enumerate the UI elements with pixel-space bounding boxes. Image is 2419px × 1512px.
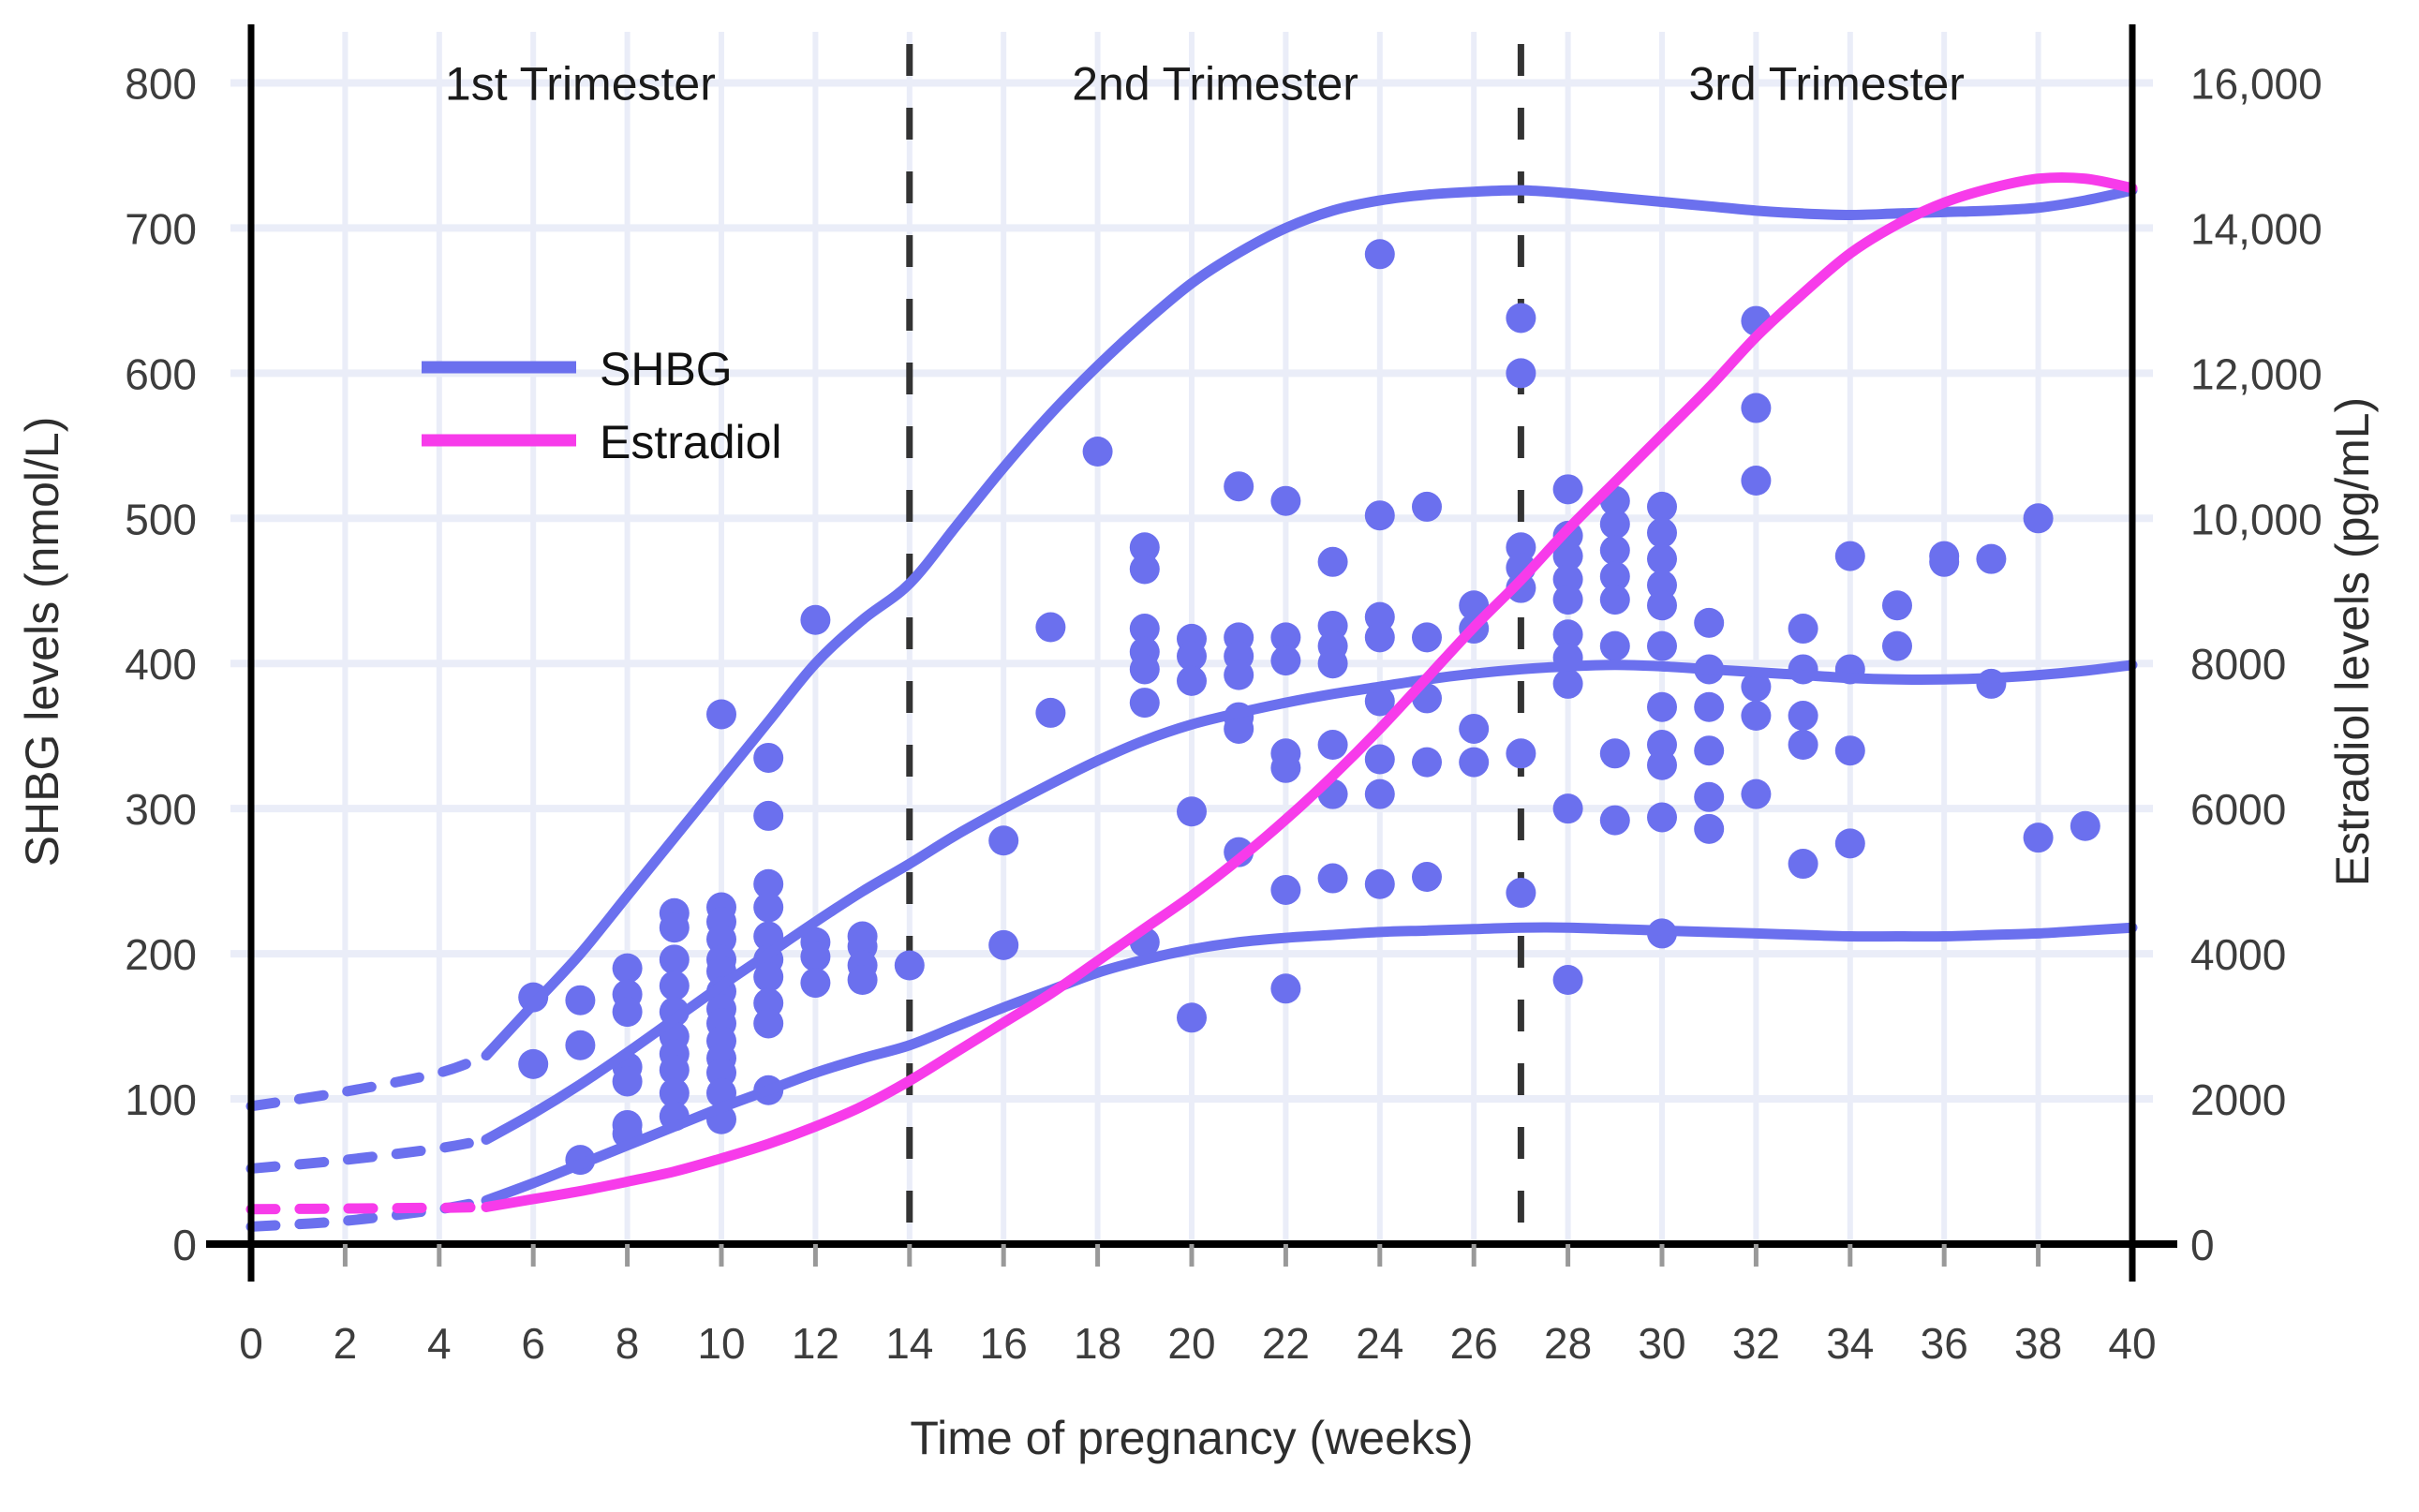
x-tick-label: 40 [2108, 1319, 2156, 1368]
scatter-point [1318, 730, 1348, 760]
x-tick-label: 30 [1638, 1319, 1685, 1368]
scatter-point [1177, 796, 1207, 826]
scatter-point [1270, 645, 1300, 675]
y-axis-left-ticks: 0100200300400500600700800 [125, 59, 197, 1269]
scatter-point [895, 951, 925, 981]
scatter-point [800, 605, 830, 635]
scatter-point [706, 699, 736, 729]
scatter-point [518, 1049, 548, 1079]
scatter-point [613, 954, 643, 984]
scatter-point [1506, 303, 1536, 333]
scatter-point [1412, 862, 1442, 892]
x-tick-label: 10 [697, 1319, 745, 1368]
scatter-point [1788, 849, 1818, 879]
chart-figure: 0246810121416182022242628303234363840010… [0, 0, 2419, 1512]
scatter-point [1224, 660, 1254, 690]
x-tick-label: 2 [334, 1319, 358, 1368]
trimester-label: 2nd Trimester [1072, 57, 1358, 110]
scatter-point [1035, 613, 1065, 643]
scatter-point [1694, 692, 1724, 722]
scatter-point [1741, 779, 1771, 809]
scatter-point [753, 1008, 783, 1038]
scatter-point [800, 941, 830, 971]
y-tick-label-left: 100 [125, 1075, 197, 1124]
scatter-point [1553, 793, 1583, 823]
scatter-point [1600, 738, 1630, 768]
scatter-point [1506, 878, 1536, 908]
scatter-point [988, 825, 1018, 855]
scatter-point [1788, 614, 1818, 644]
scatter-point [613, 997, 643, 1027]
x-tick-label: 4 [427, 1319, 452, 1368]
scatter-point [1835, 735, 1865, 765]
scatter-point [1224, 471, 1254, 501]
scatter-point [1365, 239, 1395, 269]
scatter-point [660, 971, 690, 1001]
x-tick-label: 18 [1074, 1319, 1121, 1368]
scatter-point [1882, 631, 1912, 661]
scatter-point [1459, 714, 1489, 744]
y-tick-label-right: 6000 [2190, 785, 2286, 834]
x-tick-label: 34 [1826, 1319, 1874, 1368]
x-tick-label: 20 [1167, 1319, 1215, 1368]
scatter-point [848, 965, 878, 995]
scatter-point [1694, 782, 1724, 812]
y-tick-label-left: 200 [125, 930, 197, 979]
y-tick-label-right: 12,000 [2190, 349, 2323, 398]
y-tick-label-left: 400 [125, 640, 197, 689]
scatter-point [2024, 823, 2054, 852]
scatter-point [1412, 622, 1442, 652]
scatter-point [753, 743, 783, 773]
scatter-point [1365, 500, 1395, 530]
scatter-point [1270, 875, 1300, 905]
scatter-point [1318, 648, 1348, 678]
y-tick-label-right: 4000 [2190, 930, 2286, 979]
trimester-labels: 1st Trimester2nd Trimester3rd Trimester [445, 57, 1965, 110]
x-axis-title: Time of pregnancy (weeks) [910, 1412, 1473, 1464]
scatter-point [1083, 437, 1113, 467]
scatter-point [1177, 666, 1207, 696]
x-tick-label: 22 [1262, 1319, 1310, 1368]
x-tick-label: 8 [616, 1319, 640, 1368]
scatter-point [2070, 811, 2100, 841]
scatter-point [565, 986, 595, 1015]
y-tick-label-left: 800 [125, 59, 197, 108]
legend: SHBGEstradiol [422, 343, 782, 468]
scatter-point [1647, 802, 1677, 832]
scatter-point [1647, 692, 1677, 722]
scatter-point [1412, 748, 1442, 778]
x-tick-label: 24 [1356, 1319, 1403, 1368]
scatter-point [1835, 828, 1865, 858]
scatter-point [1553, 669, 1583, 699]
scatter-layer [518, 239, 2100, 1175]
scatter-point [1741, 466, 1771, 496]
y-tick-label-right: 0 [2190, 1221, 2215, 1269]
scatter-point [660, 944, 690, 974]
scatter-point [660, 912, 690, 942]
chart-canvas: 0246810121416182022242628303234363840010… [0, 0, 2419, 1512]
scatter-point [1694, 608, 1724, 638]
x-tick-label: 0 [239, 1319, 263, 1368]
scatter-point [1270, 486, 1300, 516]
trimester-label: 3rd Trimester [1688, 57, 1965, 110]
x-tick-label: 26 [1450, 1319, 1498, 1368]
scatter-point [1741, 393, 1771, 423]
scatter-point [1647, 590, 1677, 620]
scatter-point [1459, 748, 1489, 778]
y-tick-label-right: 8000 [2190, 640, 2286, 689]
scatter-point [1130, 654, 1160, 684]
scatter-point [1130, 688, 1160, 718]
y-tick-label-left: 300 [125, 785, 197, 834]
y-tick-label-right: 16,000 [2190, 59, 2323, 108]
scatter-point [1647, 631, 1677, 661]
scatter-point [565, 1030, 595, 1060]
scatter-point [1976, 544, 2006, 574]
scatter-point [1365, 779, 1395, 809]
y-axis-left-title: SHBG levels (nmol/L) [16, 417, 68, 867]
x-tick-label: 28 [1544, 1319, 1592, 1368]
legend-label-estradiol: Estradiol [600, 416, 782, 468]
x-tick-label: 16 [980, 1319, 1028, 1368]
scatter-point [753, 801, 783, 831]
scatter-point [1318, 547, 1348, 577]
scatter-point [1130, 555, 1160, 585]
scatter-point [1647, 492, 1677, 522]
scatter-point [753, 893, 783, 923]
scatter-point [1177, 1002, 1207, 1032]
trimester-label: 1st Trimester [445, 57, 716, 110]
scatter-point [1647, 544, 1677, 574]
scatter-point [1318, 864, 1348, 894]
scatter-point [1365, 869, 1395, 899]
scatter-point [1365, 622, 1395, 652]
y-axis-right-ticks: 0200040006000800010,00012,00014,00016,00… [2190, 59, 2323, 1269]
series-line-dashed [251, 1207, 486, 1208]
x-tick-label: 14 [885, 1319, 933, 1368]
scatter-point [988, 930, 1018, 960]
scatter-point [1600, 631, 1630, 661]
scatter-point [1600, 806, 1630, 836]
y-tick-label-left: 600 [125, 349, 197, 398]
y-axis-right-title: Estradiol levels (pg/mL) [2326, 397, 2379, 886]
scatter-point [1882, 590, 1912, 620]
scatter-point [1835, 541, 1865, 571]
scatter-point [613, 1066, 643, 1096]
scatter-point [1553, 474, 1583, 504]
scatter-point [800, 968, 830, 998]
y-tick-label-right: 10,000 [2190, 495, 2323, 543]
y-tick-label-right: 2000 [2190, 1075, 2286, 1124]
x-tick-label: 32 [1732, 1319, 1780, 1368]
scatter-point [1270, 973, 1300, 1003]
scatter-point [1788, 730, 1818, 760]
scatter-point [1600, 509, 1630, 539]
x-tick-label: 36 [1921, 1319, 1968, 1368]
y-tick-label-left: 0 [172, 1221, 197, 1269]
series-line-dashed [251, 1139, 486, 1168]
scatter-point [1506, 358, 1536, 388]
x-tick-label: 12 [792, 1319, 839, 1368]
scatter-point [1929, 547, 1959, 577]
scatter-point [1553, 585, 1583, 615]
scatter-point [1788, 701, 1818, 731]
scatter-point [1553, 965, 1583, 995]
y-tick-label-right: 14,000 [2190, 204, 2323, 253]
scatter-point [1035, 698, 1065, 728]
y-tick-label-left: 700 [125, 204, 197, 253]
x-tick-label: 38 [2014, 1319, 2062, 1368]
y-tick-label-left: 500 [125, 495, 197, 543]
scatter-point [1694, 814, 1724, 844]
scatter-point [1647, 750, 1677, 780]
legend-label-shbg: SHBG [600, 343, 733, 395]
scatter-point [1694, 735, 1724, 765]
scatter-point [1365, 745, 1395, 775]
scatter-point [1412, 492, 1442, 522]
scatter-point [1600, 585, 1630, 615]
scatter-point [1600, 535, 1630, 565]
scatter-point [2024, 503, 2054, 533]
x-axis-ticks: 0246810121416182022242628303234363840 [239, 1244, 2156, 1368]
scatter-point [1270, 753, 1300, 783]
scatter-point [1741, 701, 1771, 731]
scatter-point [1647, 518, 1677, 548]
x-tick-label: 6 [521, 1319, 545, 1368]
scatter-point [1506, 738, 1536, 768]
